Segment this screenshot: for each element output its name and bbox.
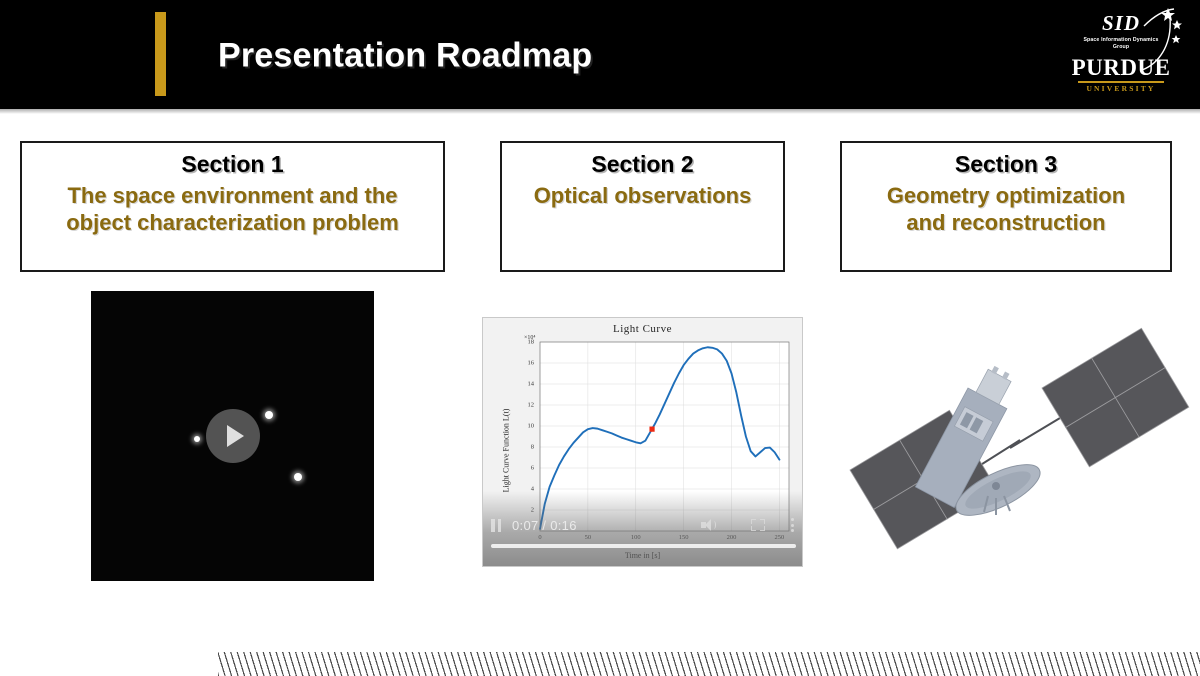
- page-title: Presentation Roadmap: [218, 37, 592, 76]
- section-3-body-line1: Geometry optimization: [850, 183, 1162, 210]
- logo-swoosh-stars-icon: [1136, 6, 1182, 78]
- purdue-sid-logo: SID Space Information Dynamics Group PUR…: [1060, 4, 1182, 104]
- star-point: [194, 436, 200, 442]
- slide-header: Presentation Roadmap SID Space Informati…: [0, 0, 1200, 109]
- section-1-title: Section 1: [22, 151, 443, 177]
- section-1-body-line1: The space environment and the: [30, 183, 435, 210]
- logo-wordmark-sub: UNIVERSITY: [1060, 84, 1182, 93]
- volume-icon[interactable]: [701, 518, 717, 532]
- chart-y-tick-label: 6: [510, 465, 534, 472]
- satellite-render: [820, 300, 1200, 590]
- play-button[interactable]: [206, 409, 260, 463]
- chart-y-tick-label: 8: [510, 444, 534, 451]
- section-1-body: The space environment and the object cha…: [22, 183, 443, 237]
- star-point: [265, 411, 273, 419]
- section-2-body-line1: Optical observations: [510, 183, 775, 210]
- section-2-body: Optical observations: [502, 183, 783, 210]
- chart-y-tick-label: 18: [510, 339, 534, 346]
- current-time-marker: [649, 427, 654, 432]
- chart-title: Light Curve: [483, 323, 802, 335]
- chart-y-tick-label: 14: [510, 381, 534, 388]
- header-accent-bar: [155, 12, 166, 96]
- footer-hatch-decoration: [218, 652, 1200, 676]
- pause-icon[interactable]: [491, 519, 501, 532]
- section-2-title: Section 2: [502, 151, 783, 177]
- section-2-box[interactable]: Section 2 Optical observations: [500, 141, 785, 272]
- section-1-body-line2: object characterization problem: [30, 210, 435, 237]
- section-3-title: Section 3: [842, 151, 1170, 177]
- logo-rule: [1078, 81, 1164, 83]
- chart-y-tick-label: 12: [510, 402, 534, 409]
- light-curve-video[interactable]: Light Curve ×10⁴ Light Curve Function L(…: [482, 317, 803, 567]
- space-observation-video[interactable]: [91, 291, 374, 581]
- section-3-body: Geometry optimization and reconstruction: [842, 183, 1170, 237]
- video-time-display: 0:07 / 0:16: [512, 518, 577, 533]
- video-controls-bar[interactable]: 0:07 / 0:16: [483, 512, 802, 538]
- video-progress-bar[interactable]: [491, 544, 796, 548]
- more-options-icon[interactable]: [791, 518, 794, 532]
- section-3-body-line2: and reconstruction: [850, 210, 1162, 237]
- chart-x-axis-label: Time in [s]: [483, 551, 802, 560]
- play-icon: [227, 425, 244, 447]
- chart-y-tick-label: 16: [510, 360, 534, 367]
- satellite-svg: [820, 300, 1200, 590]
- slide: Presentation Roadmap SID Space Informati…: [0, 0, 1200, 676]
- section-1-box[interactable]: Section 1 The space environment and the …: [20, 141, 445, 272]
- star-point: [294, 473, 302, 481]
- header-shadow: [0, 109, 1200, 114]
- chart-y-tick-label: 4: [510, 486, 534, 493]
- fullscreen-icon[interactable]: [751, 519, 765, 531]
- chart-y-tick-label: 10: [510, 423, 534, 430]
- section-3-box[interactable]: Section 3 Geometry optimization and reco…: [840, 141, 1172, 272]
- page-title-wrapper: Presentation Roadmap: [218, 37, 592, 76]
